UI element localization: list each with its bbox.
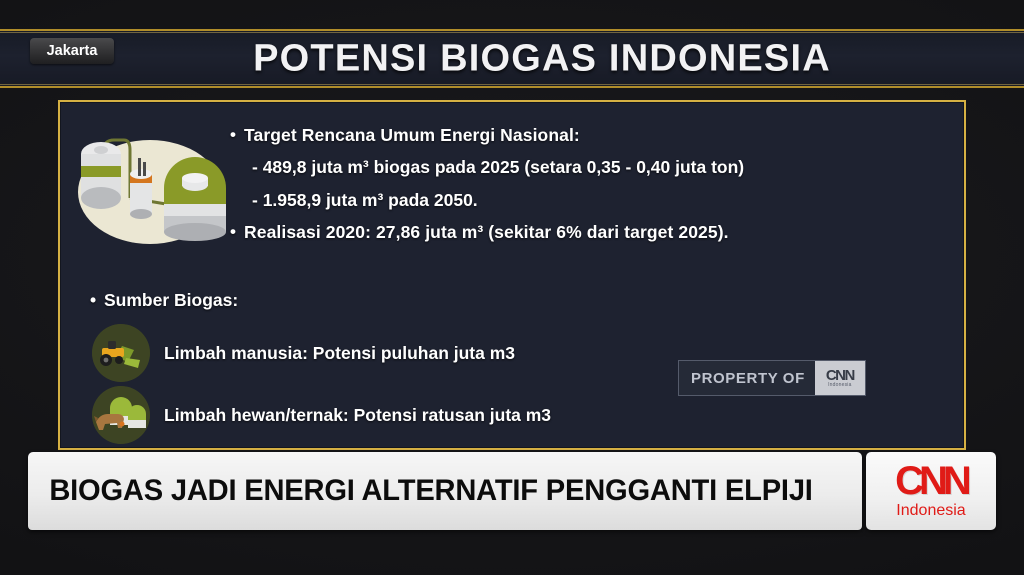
- watermark-text: PROPERTY OF: [679, 361, 815, 395]
- source-label: Limbah manusia: Potensi puluhan juta m3: [164, 343, 515, 364]
- cnn-logo-mark: CNN: [895, 462, 967, 500]
- cnn-logo-subtitle: Indonesia: [896, 502, 965, 520]
- property-of-watermark: PROPERTY OF CNN Indonesia: [678, 360, 866, 396]
- source-label: Limbah hewan/ternak: Potensi ratusan jut…: [164, 405, 551, 426]
- watermark-cnn-logo: CNN Indonesia: [815, 361, 865, 395]
- bullet-realisasi-text: Realisasi 2020: 27,86 juta m³ (sekitar 6…: [244, 221, 729, 243]
- cnn-indonesia-logo: CNN Indonesia: [866, 452, 996, 530]
- bullet-marker-icon: •: [230, 221, 244, 243]
- biogas-digester-illustration: [68, 110, 228, 260]
- source-item: Limbah manusia: Potensi puluhan juta m3: [92, 324, 515, 382]
- sub-item-2050: - 1.958,9 juta m³ pada 2050.: [252, 189, 934, 211]
- main-bullet-list: • Target Rencana Umum Energi Nasional: -…: [230, 124, 934, 254]
- sub-item-2025: - 489,8 juta m³ biogas pada 2025 (setara…: [252, 156, 934, 178]
- cattle-digester-icon: [92, 386, 150, 444]
- header-band: POTENSI BIOGAS INDONESIA: [0, 29, 1024, 88]
- watermark-cnn-sub: Indonesia: [828, 383, 852, 388]
- sumber-biogas-heading: • Sumber Biogas:: [90, 290, 238, 311]
- bullet-marker-icon: •: [230, 124, 244, 146]
- tractor-manure-icon: [92, 324, 150, 382]
- location-chip: Jakarta: [30, 38, 114, 64]
- bullet-realisasi: • Realisasi 2020: 27,86 juta m³ (sekitar…: [230, 221, 934, 243]
- location-chip-label: Jakarta: [47, 43, 98, 59]
- bullet-target-rencana-text: Target Rencana Umum Energi Nasional:: [244, 124, 580, 146]
- sumber-biogas-heading-text: Sumber Biogas:: [104, 290, 238, 311]
- page-title: POTENSI BIOGAS INDONESIA: [0, 37, 1024, 80]
- source-item: Limbah hewan/ternak: Potensi ratusan jut…: [92, 386, 551, 444]
- ticker-headline: BIOGAS JADI ENERGI ALTERNATIF PENGGANTI …: [28, 474, 813, 508]
- news-ticker: BIOGAS JADI ENERGI ALTERNATIF PENGGANTI …: [28, 452, 862, 530]
- bullet-target-rencana: • Target Rencana Umum Energi Nasional:: [230, 124, 934, 146]
- broadcast-screenshot: POTENSI BIOGAS INDONESIA Jakarta: [0, 0, 1024, 575]
- bullet-marker-icon: •: [90, 290, 104, 311]
- content-frame: • Target Rencana Umum Energi Nasional: -…: [58, 100, 966, 450]
- watermark-cnn-mark: CNN: [826, 368, 854, 383]
